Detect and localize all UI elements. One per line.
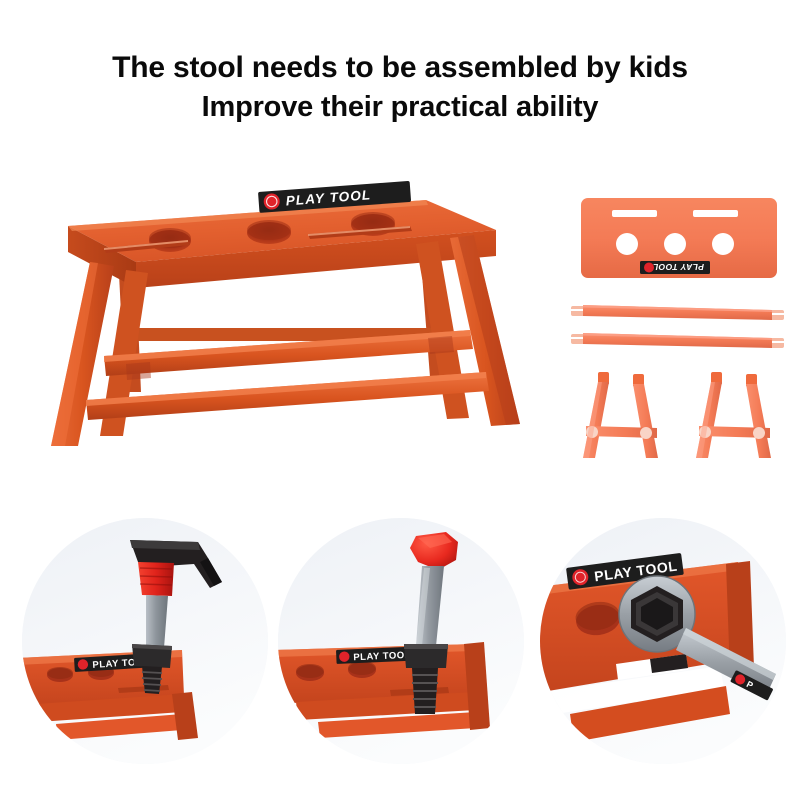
- headline-line-1: The stool needs to be assembled by kids: [0, 48, 800, 88]
- headline-block: The stool needs to be assembled by kids …: [0, 48, 800, 126]
- panel-hole-2: [664, 233, 686, 255]
- stool-lower-rail: [86, 372, 489, 420]
- headline-line-2: Improve their practical ability: [0, 88, 800, 126]
- leg-frame-2: [696, 372, 771, 458]
- stool-illustration: PLAY TOOL: [18, 178, 558, 488]
- disassembled-parts-column: PLAY TOOL: [565, 180, 790, 480]
- seat-panel-illustration: PLAY TOOL: [565, 188, 790, 288]
- part-cross-rods: [565, 298, 790, 360]
- svg-text:PLAY TOOL: PLAY TOOL: [653, 262, 704, 272]
- wrench-detail-illustration: PLAY TOOL: [540, 518, 786, 764]
- screwdriver-detail-illustration: PLAY TOOL: [278, 518, 524, 764]
- panel-brand-label: PLAY TOOL: [640, 261, 710, 274]
- cross-rod-1: [571, 305, 784, 320]
- hammer-detail-illustration: PLAY TOOL: [22, 518, 268, 764]
- leg-frames-illustration: [565, 368, 790, 468]
- stool-seat-closeup: PLAY TOOL: [22, 650, 198, 740]
- detail-photo-hammer: PLAY TOOL: [22, 518, 268, 764]
- part-leg-frames: [565, 368, 790, 468]
- cross-rods-illustration: [565, 298, 790, 360]
- panel-slot-2: [693, 210, 738, 217]
- cross-rod-2: [571, 333, 784, 348]
- panel-hole-3: [712, 233, 734, 255]
- leg-frame-1: [583, 372, 658, 458]
- detail-photo-screwdriver: PLAY TOOL: [278, 518, 524, 764]
- part-seat-panel: PLAY TOOL: [565, 188, 790, 288]
- product-image-page: The stool needs to be assembled by kids …: [0, 0, 800, 800]
- main-stool-photo: PLAY TOOL: [18, 178, 558, 488]
- detail-photo-wrench: PLAY TOOL: [540, 518, 786, 764]
- panel-hole-1: [616, 233, 638, 255]
- panel-slot-1: [612, 210, 657, 217]
